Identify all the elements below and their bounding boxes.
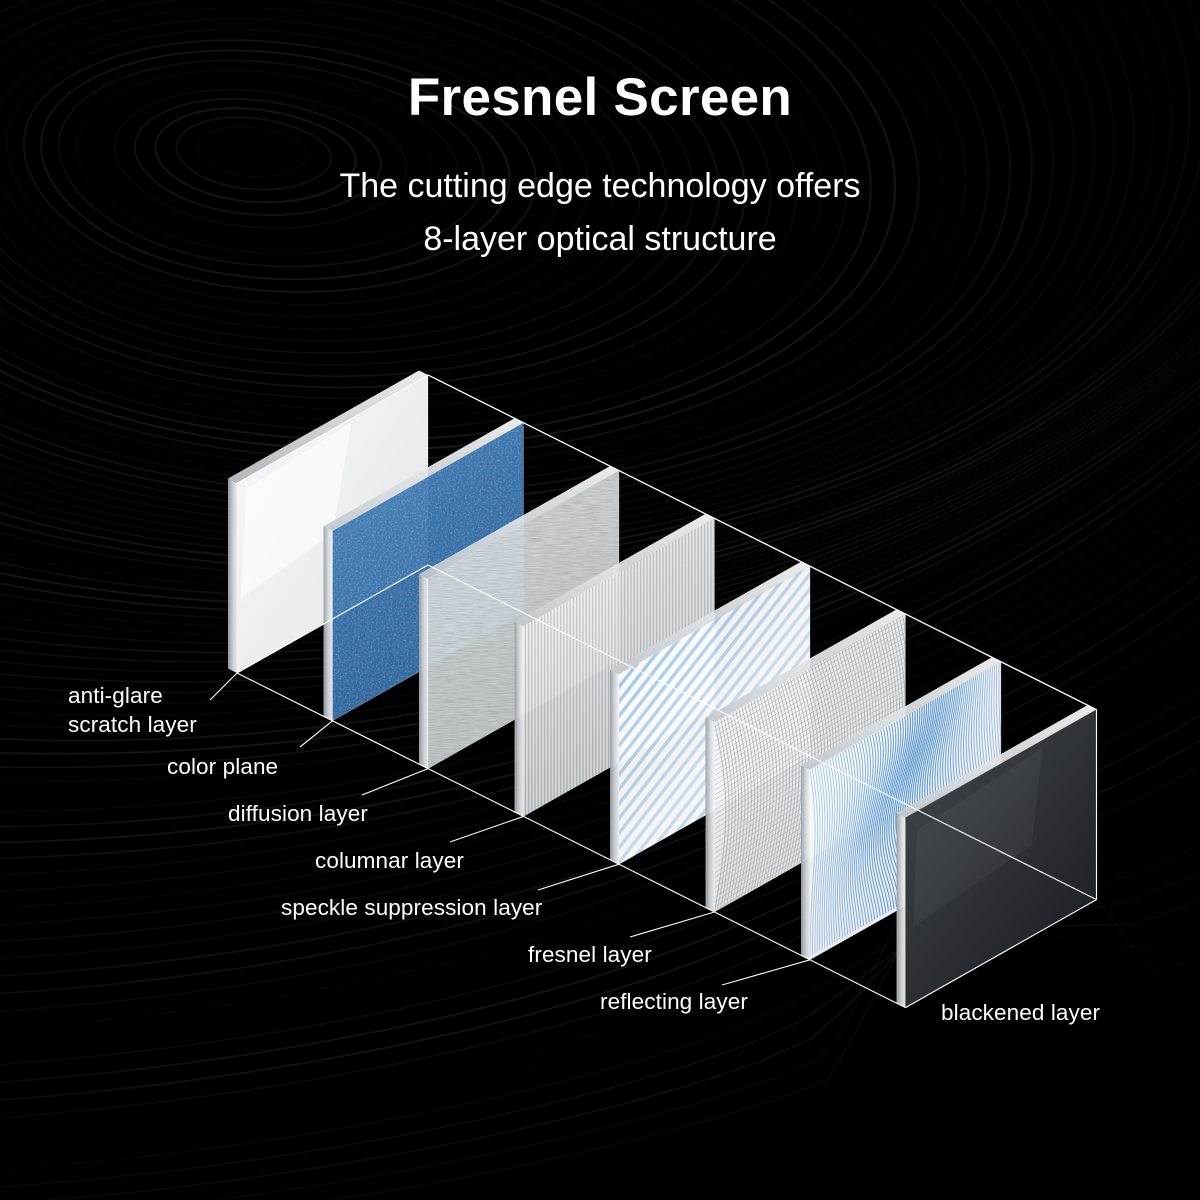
layer-edge-slab	[515, 622, 524, 817]
layer-edge-slab	[419, 574, 428, 769]
layer-stack-svg	[0, 0, 1200, 1200]
layer-edge-slab	[801, 765, 810, 960]
layer-edge-slab	[897, 813, 906, 1008]
layer-panels	[228, 371, 1097, 1008]
layer-edge-slab	[706, 718, 715, 913]
layer-edge-slab	[228, 479, 237, 674]
layer-edge-slab	[610, 670, 619, 865]
layer-stack-diagram	[0, 0, 1200, 1200]
